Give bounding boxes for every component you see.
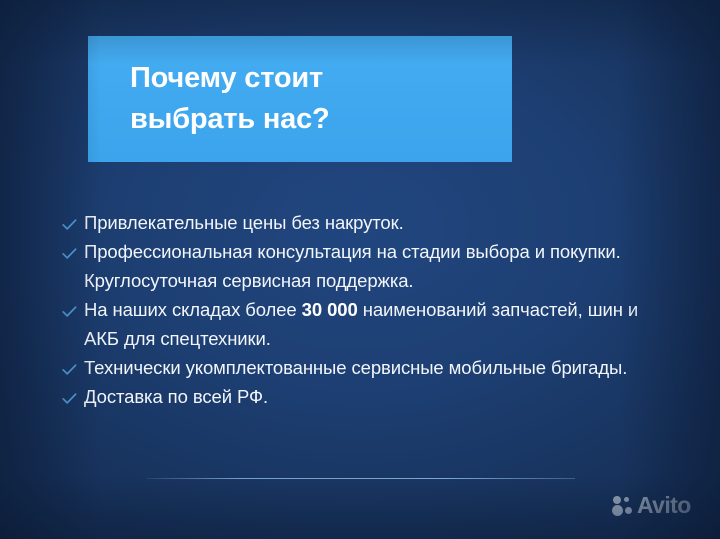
benefit-text-segment: На наших складах более: [84, 299, 302, 320]
title-line-2: выбрать нас?: [130, 99, 496, 140]
check-icon: [62, 384, 84, 405]
benefit-text: На наших складах более 30 000 наименован…: [84, 295, 672, 353]
title-text-block: Почему стоит выбрать нас?: [130, 58, 496, 140]
benefit-text: Профессиональная консультация на стадии …: [84, 237, 672, 295]
benefit-item: Технически укомплектованные сервисные мо…: [62, 353, 672, 382]
benefit-item: На наших складах более 30 000 наименован…: [62, 295, 672, 353]
benefit-item: Привлекательные цены без накруток.: [62, 208, 672, 237]
title-line-1: Почему стоит: [130, 58, 496, 99]
avito-circles-logo-icon: [612, 495, 634, 517]
avito-wordmark: Avito: [637, 494, 691, 517]
title-banner: Почему стоит выбрать нас?: [88, 36, 512, 162]
benefit-text-segment: Доставка по всей РФ.: [84, 386, 268, 407]
check-icon: [62, 355, 84, 376]
benefit-text-segment: Профессиональная консультация на стадии …: [84, 241, 621, 291]
benefits-list: Привлекательные цены без накруток.Профес…: [62, 208, 672, 411]
avito-watermark: Avito: [612, 494, 691, 517]
benefit-item: Профессиональная консультация на стадии …: [62, 237, 672, 295]
benefit-text: Привлекательные цены без накруток.: [84, 208, 672, 237]
benefit-text: Доставка по всей РФ.: [84, 382, 672, 411]
benefit-item: Доставка по всей РФ.: [62, 382, 672, 411]
benefit-text-segment: Привлекательные цены без накруток.: [84, 212, 404, 233]
benefit-highlight: 30 000: [302, 299, 358, 320]
footer-divider: [147, 478, 575, 479]
check-icon: [62, 297, 84, 318]
slide-canvas: Почему стоит выбрать нас? Привлекательны…: [0, 0, 720, 539]
benefit-text: Технически укомплектованные сервисные мо…: [84, 353, 672, 382]
check-icon: [62, 210, 84, 231]
benefit-text-segment: Технически укомплектованные сервисные мо…: [84, 357, 627, 378]
check-icon: [62, 239, 84, 260]
